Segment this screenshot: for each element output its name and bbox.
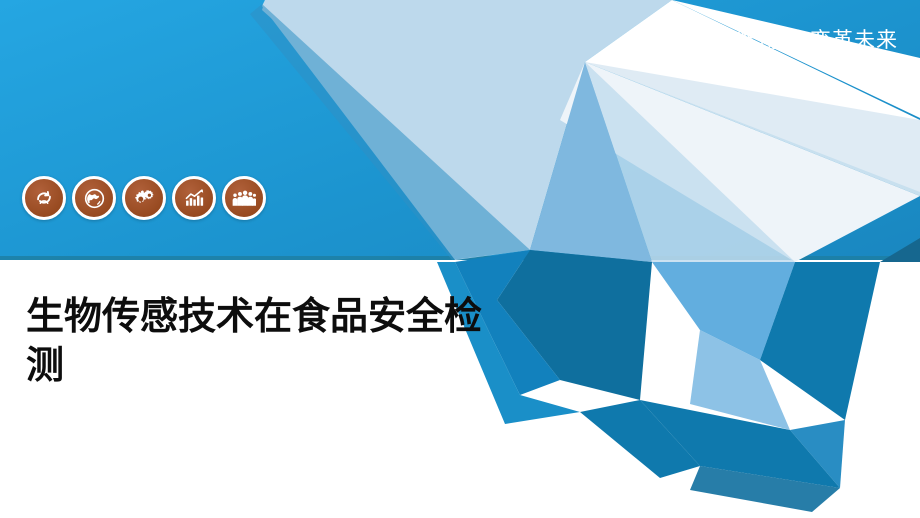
page-title: 生物传感技术在食品安全检测 [26, 292, 506, 389]
icon-row [22, 176, 266, 220]
low-poly-background-artwork [0, 0, 920, 518]
presentation-slide: 数智创新 变革未来 [0, 0, 920, 518]
recycle-arrow-icon[interactable] [22, 176, 66, 220]
poly-far-right-dark [880, 238, 920, 262]
tagline: 数智创新 变革未来 [714, 24, 898, 54]
people-group-icon[interactable] [222, 176, 266, 220]
bar-chart-growth-icon[interactable] [172, 176, 216, 220]
gears-icon[interactable] [122, 176, 166, 220]
globe-icon[interactable] [72, 176, 116, 220]
